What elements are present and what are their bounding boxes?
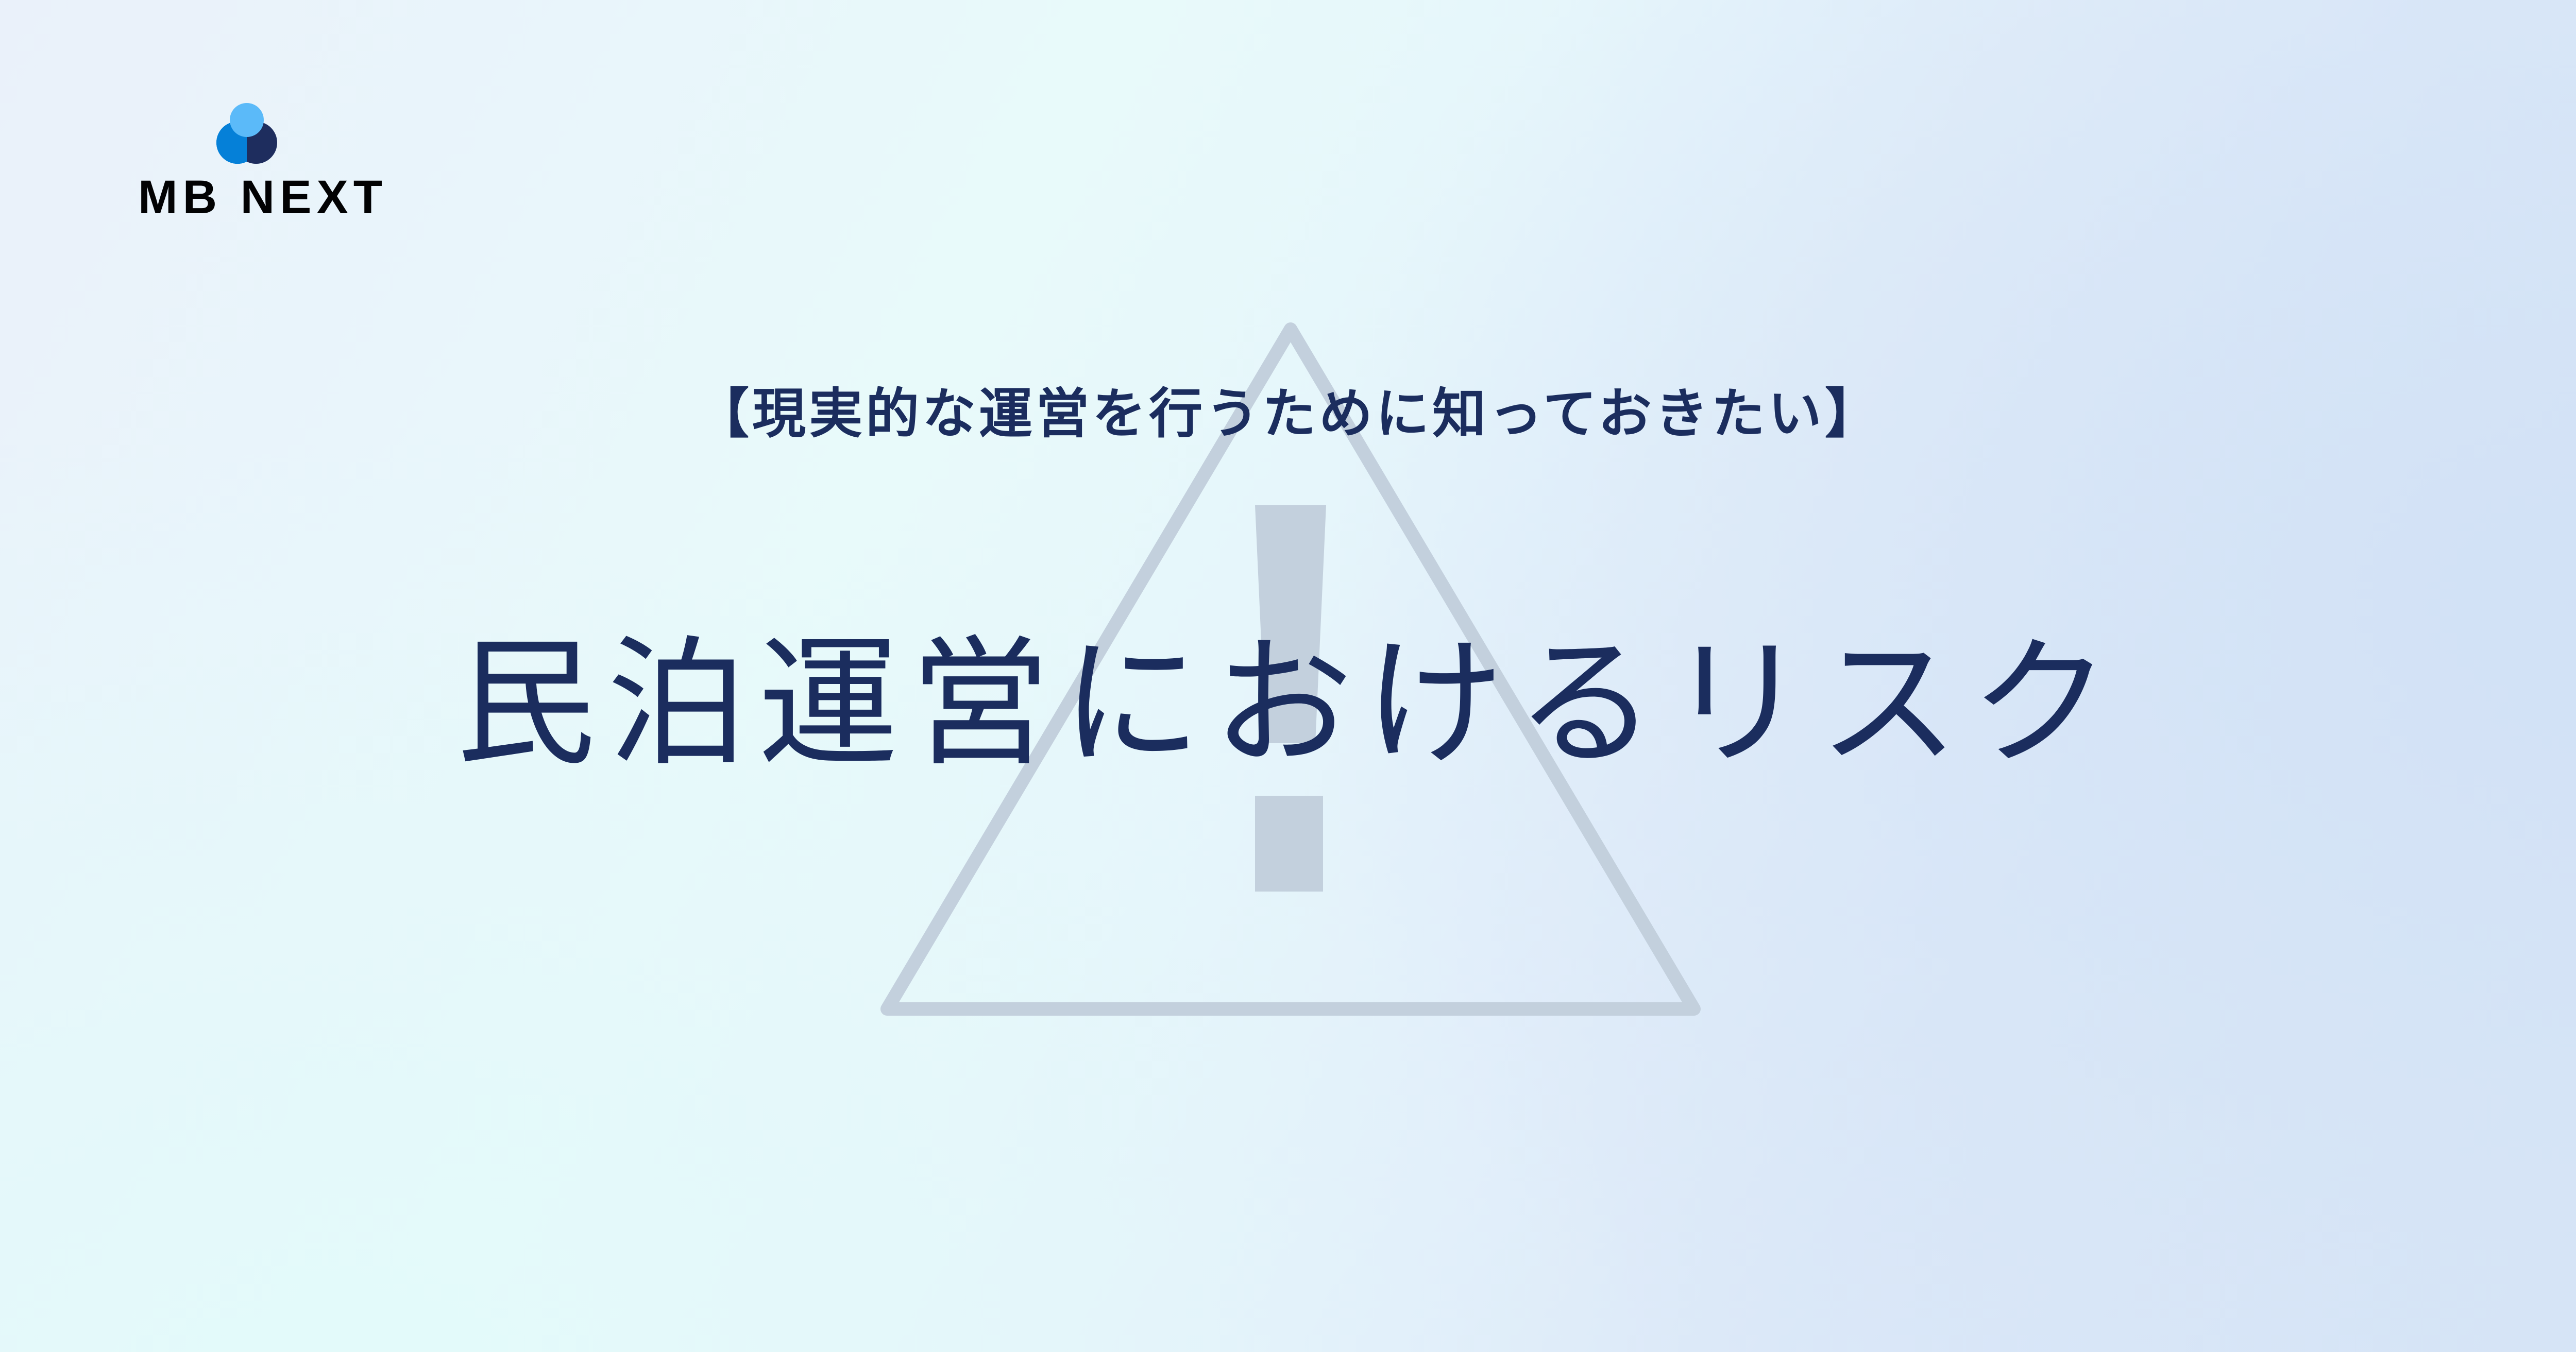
slide-headline: 民泊運営におけるリスク <box>0 626 2576 783</box>
slide-eyebrow: 【現実的な運営を行うために知っておきたい】 <box>0 382 2576 446</box>
logo-wordmark: MB NEXT <box>138 174 387 221</box>
exclamation-bar <box>1255 505 1326 743</box>
exclamation-dot <box>1255 796 1323 892</box>
circle-top <box>230 103 264 137</box>
title-slide: MB NEXT 【現実的な運営を行うために知っておきたい】 民泊運営におけるリス… <box>0 0 2576 1352</box>
three-circles-mark-icon <box>216 100 277 164</box>
warning-triangle-outline <box>887 329 1694 1009</box>
warning-triangle-watermark <box>835 286 1747 1058</box>
brand-logo[interactable]: MB NEXT <box>138 100 387 221</box>
